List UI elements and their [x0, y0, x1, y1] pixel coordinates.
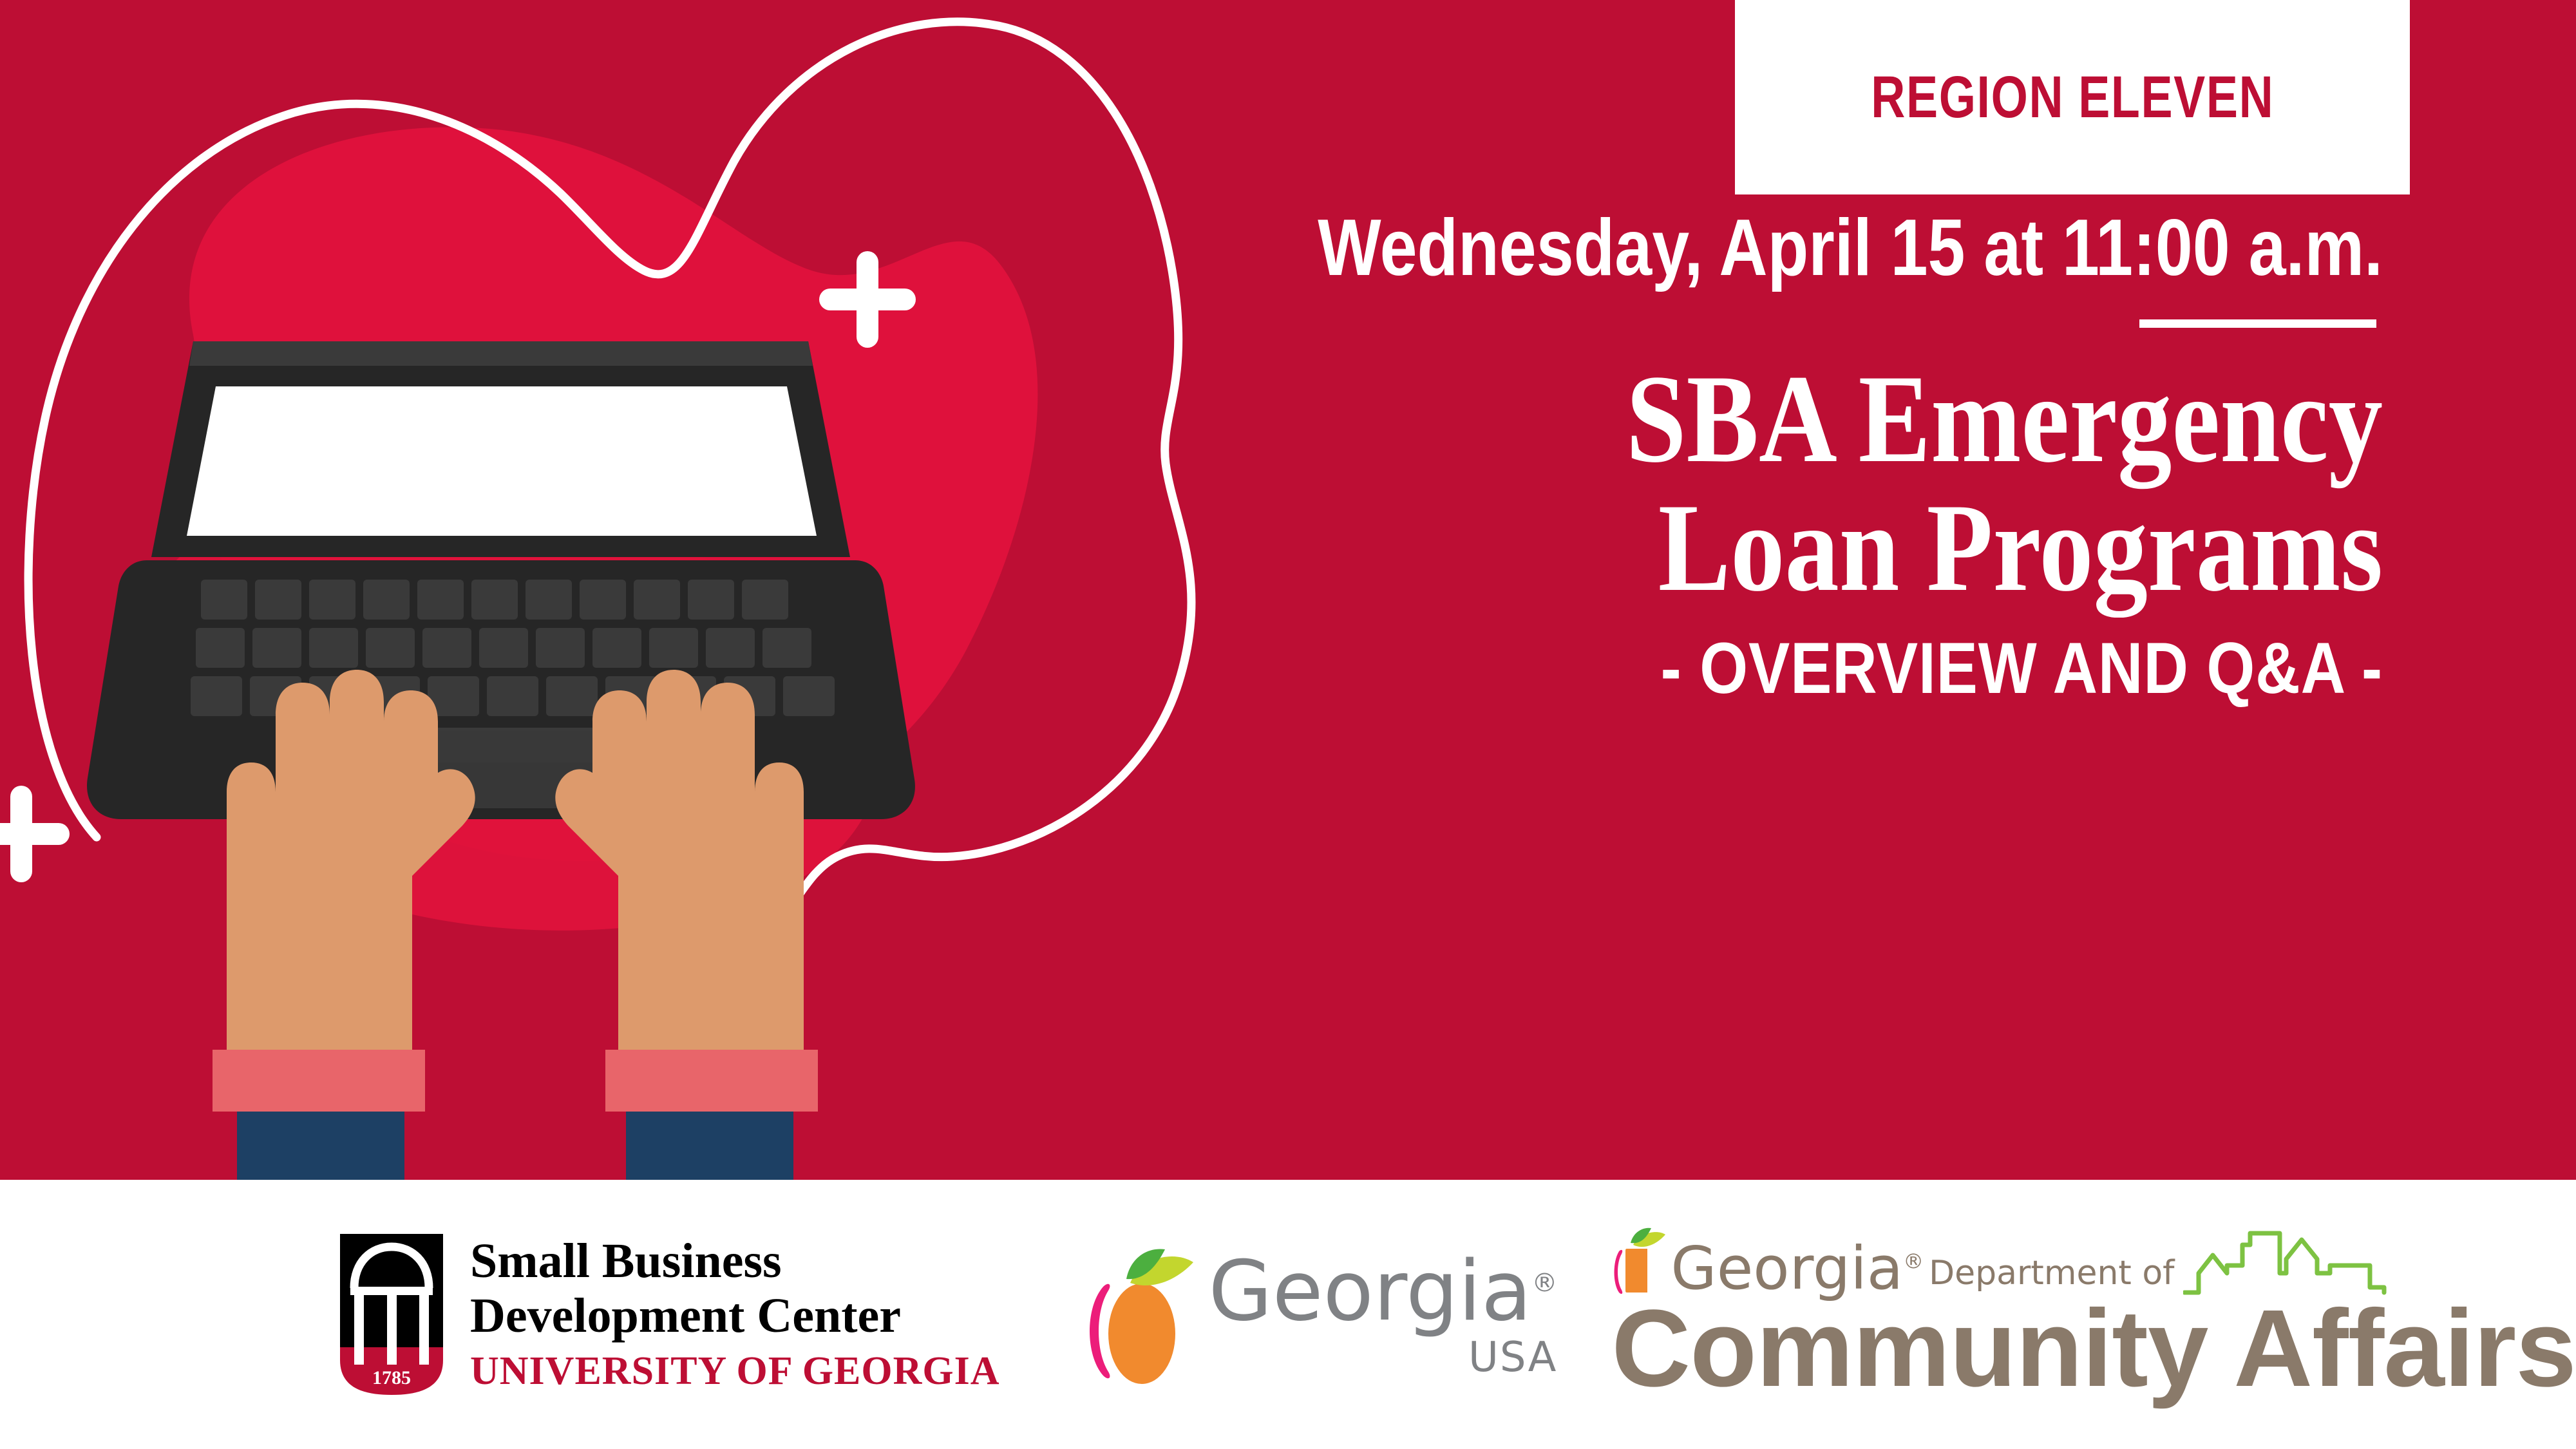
event-date-line: Wednesday, April 15 at 11:00 a.m. — [1312, 206, 2383, 290]
dca-department-of: Department of — [1929, 1256, 2174, 1290]
logo-georgia-dca: Georgia® Department of Community Affairs — [1611, 1226, 2575, 1403]
event-subtitle: - OVERVIEW AND Q&A - — [1286, 630, 2383, 706]
event-text-block: Wednesday, April 15 at 11:00 a.m. SBA Em… — [1108, 206, 2383, 706]
sbdc-line-2: Development Center — [470, 1289, 1000, 1343]
registered-mark: ® — [1903, 1249, 1924, 1273]
title-divider — [2139, 319, 2376, 328]
divider-wrap — [1108, 319, 2383, 328]
left-sleeve — [237, 1112, 404, 1180]
city-skyline-icon — [2183, 1226, 2396, 1296]
event-title-line-1: SBA Emergency — [1286, 355, 2383, 484]
right-cuff — [605, 1050, 818, 1112]
logo-georgia-usa: Georgia® USA — [1071, 1235, 1567, 1394]
right-sleeve — [626, 1112, 793, 1180]
region-badge: REGION ELEVEN — [1735, 0, 2410, 194]
left-cuff — [213, 1050, 425, 1112]
poster-root: REGION ELEVEN Wednesday, April 15 at 11:… — [0, 0, 2576, 1449]
region-badge-label: REGION ELEVEN — [1871, 68, 2274, 127]
sbdc-line-3: UNIVERSITY OF GEORGIA — [470, 1347, 1000, 1395]
uga-arch-shield-icon: 1785 — [335, 1234, 448, 1395]
dca-community-affairs: Community Affairs — [1611, 1294, 2575, 1403]
hero-banner: REGION ELEVEN Wednesday, April 15 at 11:… — [0, 0, 2576, 1180]
gausa-name-text: Georgia — [1209, 1244, 1532, 1340]
logo-uga-sbdc: 1785 Small Business Development Center U… — [335, 1234, 1000, 1396]
georgia-peach-icon — [1080, 1240, 1202, 1388]
gausa-sub: USA — [1209, 1337, 1558, 1378]
gausa-name: Georgia® — [1209, 1251, 1558, 1333]
georgia-peach-icon — [1611, 1227, 1667, 1296]
sbdc-line-1: Small Business — [470, 1234, 1000, 1289]
event-title: SBA Emergency Loan Programs — [1286, 355, 2383, 612]
shield-year: 1785 — [372, 1367, 411, 1388]
sbdc-wordmark: Small Business Development Center UNIVER… — [470, 1234, 1000, 1396]
footer-logo-bar: 1785 Small Business Development Center U… — [0, 1180, 2576, 1449]
gausa-wordmark: Georgia® USA — [1209, 1251, 1558, 1378]
registered-mark: ® — [1531, 1268, 1557, 1298]
event-title-line-2: Loan Programs — [1286, 484, 2383, 612]
